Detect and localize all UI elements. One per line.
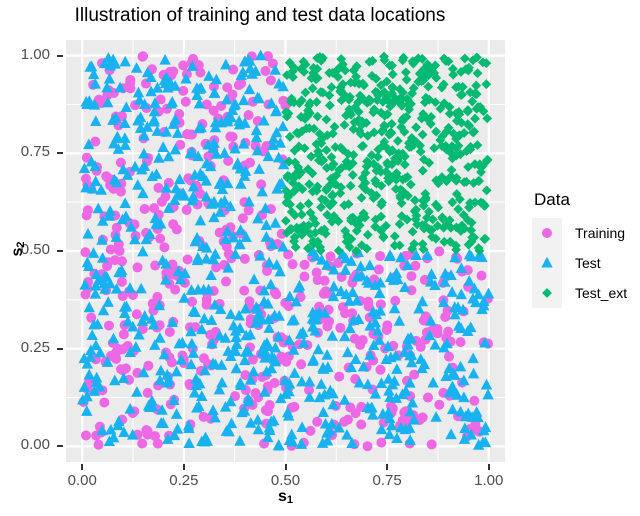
legend-label: Training	[575, 225, 625, 241]
legend-item-test_ext[interactable]: Test_ext	[532, 278, 640, 308]
y-axis-tick-label: 1.00	[0, 46, 50, 63]
x-axis-tick-mark	[285, 464, 287, 470]
legend-item-training[interactable]: Training	[532, 218, 640, 248]
scatter-plot-figure: Illustration of training and test data l…	[0, 0, 640, 516]
plot-panel	[66, 40, 505, 462]
y-axis-title-subscript: 2	[15, 241, 27, 247]
x-axis-title-subscript: 1	[287, 494, 293, 506]
legend-label: Test_ext	[575, 285, 627, 301]
y-axis-tick-label: 0.25	[0, 339, 50, 356]
x-axis-tick-label: 0.00	[42, 472, 122, 489]
x-axis-tick-mark	[488, 464, 490, 470]
x-axis-tick-label: 1.00	[449, 472, 529, 489]
y-axis-tick-mark	[57, 152, 63, 154]
x-axis-tick-mark	[183, 464, 185, 470]
x-axis-tick-label: 0.75	[347, 472, 427, 489]
x-axis-tick-mark	[386, 464, 388, 470]
y-axis-tick-mark	[57, 348, 63, 350]
y-axis-tick-label: 0.75	[0, 143, 50, 160]
legend-key-circle-icon	[532, 218, 562, 248]
page-title: Illustration of training and test data l…	[0, 4, 520, 28]
y-axis-title: s2	[9, 219, 27, 279]
x-axis-tick-label: 0.50	[246, 472, 326, 489]
legend-key-diamond-icon	[532, 278, 562, 308]
data-points-layer	[66, 40, 505, 462]
series-test_ext	[281, 52, 493, 256]
legend-label: Test	[575, 255, 601, 271]
y-axis-title-text: s	[9, 248, 26, 257]
y-axis-tick-mark	[57, 55, 63, 57]
x-axis-tick-mark	[81, 464, 83, 470]
x-axis-title-text: s	[278, 488, 287, 505]
y-axis-tick-label: 0.00	[0, 436, 50, 453]
legend-item-test[interactable]: Test	[532, 248, 640, 278]
legend: Data TrainingTestTest_ext	[532, 190, 640, 308]
y-axis-tick-mark	[57, 445, 63, 447]
x-axis-title: s1	[66, 488, 505, 506]
legend-key-triangle-icon	[532, 248, 562, 278]
legend-items: TrainingTestTest_ext	[532, 218, 640, 308]
x-axis-tick-label: 0.25	[144, 472, 224, 489]
legend-title: Data	[534, 190, 640, 210]
y-axis-tick-mark	[57, 250, 63, 252]
